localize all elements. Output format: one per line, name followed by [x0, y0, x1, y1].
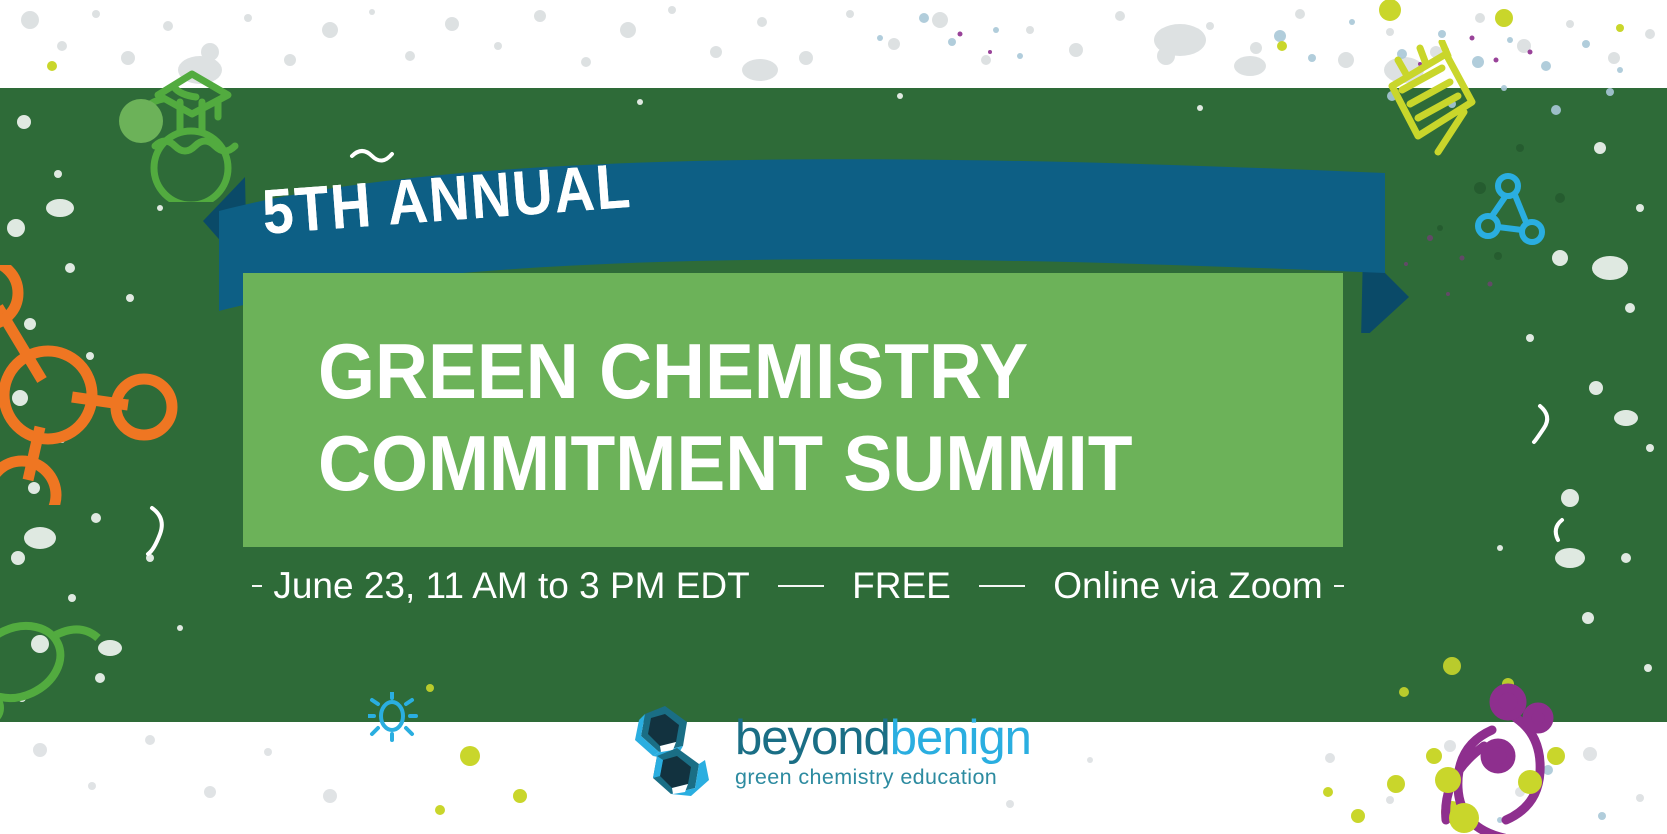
molecule-purple-icon: [1380, 660, 1570, 834]
molecule-orange-icon: [0, 265, 180, 505]
promo-banner: 5TH ANNUAL GREEN CHEMISTRY COMMITMENT SU…: [0, 0, 1667, 834]
detail-location: Online via Zoom: [1051, 565, 1324, 607]
detail-price: FREE: [850, 565, 953, 607]
bacteria-cyan-icon: [368, 692, 418, 742]
event-details-row: June 23, 11 AM to 3 PM EDT FREE Online v…: [243, 560, 1353, 612]
detail-separator-1: [778, 585, 824, 587]
leading-dash: [252, 585, 262, 587]
title-line-2: COMMITMENT SUMMIT: [318, 417, 1220, 509]
logo-tagline: green chemistry education: [735, 765, 1031, 790]
page-title: GREEN CHEMISTRY COMMITMENT SUMMIT: [318, 325, 1278, 509]
detail-date-time: June 23, 11 AM to 3 PM EDT: [271, 565, 751, 607]
logo-word-benign: benign: [890, 711, 1031, 765]
beyond-benign-mark-icon: [625, 700, 717, 800]
molecule-cyan-icon: [1468, 170, 1558, 260]
logo-wordmark: beyondbenign green chemistry education: [735, 714, 1031, 790]
detail-separator-2: [979, 585, 1025, 587]
trailing-dash: [1334, 585, 1344, 587]
beyond-benign-logo: beyondbenign green chemistry education: [625, 700, 1031, 800]
notebook-yellow-icon: [1368, 40, 1488, 160]
logo-word-beyond: beyond: [735, 711, 890, 765]
molecule-green-icon: [0, 600, 120, 730]
logo-word-line: beyondbenign: [735, 714, 1031, 763]
title-line-1: GREEN CHEMISTRY: [318, 325, 1220, 417]
